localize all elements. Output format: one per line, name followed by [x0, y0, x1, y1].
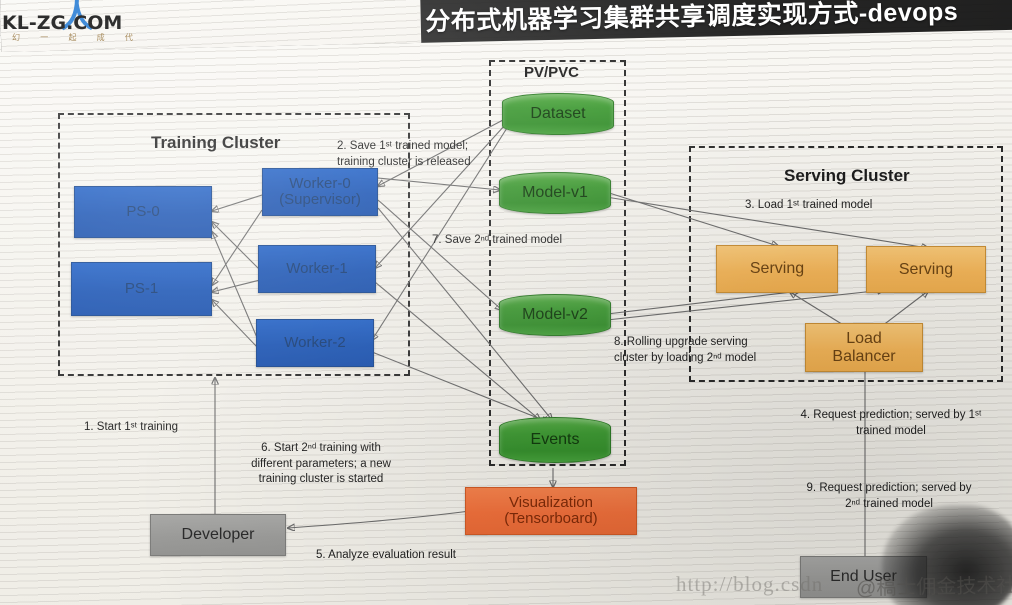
- node-model-v2[interactable]: Model-v2: [499, 294, 611, 336]
- node-worker-2[interactable]: Worker-2: [256, 319, 374, 367]
- node-worker-1[interactable]: Worker-1: [258, 245, 376, 293]
- node-worker-0-role: (Supervisor): [279, 192, 361, 209]
- node-visualization-label-2: (Tensorboard): [504, 511, 597, 528]
- training-cluster-label: Training Cluster: [151, 133, 280, 153]
- node-visualization-label-1: Visualization: [509, 495, 593, 512]
- node-serving-b-label: Serving: [899, 261, 953, 279]
- node-developer[interactable]: Developer: [150, 514, 286, 556]
- node-visualization[interactable]: Visualization (Tensorboard): [465, 487, 637, 535]
- node-events-label: Events: [531, 431, 580, 449]
- node-ps-1[interactable]: PS-1: [71, 262, 212, 316]
- node-ps-1-label: PS-1: [125, 281, 158, 298]
- node-model-v2-label: Model-v2: [522, 306, 588, 324]
- node-serving-b[interactable]: Serving: [866, 246, 986, 293]
- step-1-label: 1. Start 1ˢᵗ training: [84, 420, 178, 436]
- pvpvc-label: PV/PVC: [524, 64, 579, 81]
- step-8-label: 8. Rolling upgrade serving cluster by lo…: [614, 335, 756, 366]
- step-2-label: 2. Save 1ˢᵗ trained model; training clus…: [337, 139, 471, 170]
- whiteboard-photo: 分布式机器学习集群共享调度实现方式-devops 人 KL-ZG.COM 幻 一…: [0, 0, 1012, 605]
- node-dataset[interactable]: Dataset: [502, 93, 614, 135]
- serving-cluster-label: Serving Cluster: [784, 166, 910, 186]
- step-6-label: 6. Start 2ⁿᵈ training with different par…: [222, 441, 420, 488]
- node-serving-a-label: Serving: [750, 260, 804, 278]
- node-model-v1[interactable]: Model-v1: [499, 172, 611, 214]
- node-developer-label: Developer: [182, 526, 255, 544]
- node-dataset-label: Dataset: [530, 105, 585, 123]
- node-worker-1-label: Worker-1: [286, 261, 347, 278]
- node-model-v1-label: Model-v1: [522, 184, 588, 202]
- node-ps-0-label: PS-0: [126, 204, 159, 221]
- step-3-label: 3. Load 1ˢᵗ trained model: [745, 198, 872, 214]
- node-load-balancer[interactable]: Load Balancer: [805, 323, 923, 372]
- node-ps-0[interactable]: PS-0: [74, 186, 212, 238]
- node-events[interactable]: Events: [499, 417, 611, 463]
- watermark-url: http://blog.csdn: [676, 572, 823, 597]
- watermark-handle: @稿士佣金技术社区X: [856, 568, 1012, 600]
- node-worker-0[interactable]: Worker-0 (Supervisor): [262, 168, 378, 216]
- step-7-label: 7. Save 2ⁿᵈ trained model: [432, 233, 562, 249]
- node-load-balancer-label-1: Load: [846, 330, 882, 348]
- node-serving-a[interactable]: Serving: [716, 245, 838, 293]
- node-load-balancer-label-2: Balancer: [832, 348, 895, 366]
- node-worker-2-label: Worker-2: [284, 335, 345, 352]
- step-4-label: 4. Request prediction; served by 1ˢᵗ tra…: [782, 408, 1000, 439]
- node-worker-0-label: Worker-0: [289, 176, 350, 193]
- step-5-label: 5. Analyze evaluation result: [316, 548, 456, 564]
